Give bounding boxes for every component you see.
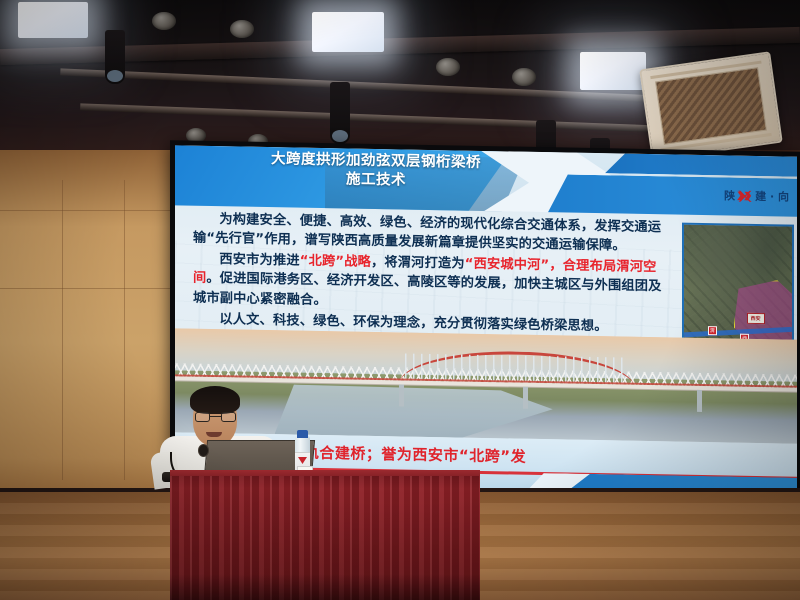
- bridge-pier: [697, 390, 702, 412]
- bridge-rendering-image: [175, 328, 797, 443]
- hanging-light-fixture: [105, 30, 125, 84]
- slide-paragraph-1: 为构建安全、便捷、高效、绿色、经济的现代化综合交通体系，发挥交通运输“先行官”作…: [193, 210, 663, 257]
- glasses-lens-left: [195, 412, 210, 422]
- stage-light: [18, 2, 88, 38]
- glasses-lens-right: [221, 412, 236, 422]
- ceiling-spotlight: [152, 12, 176, 30]
- text-run: 西安市为推进: [219, 252, 299, 268]
- slide-paragraph-2: 西安市为推进“北跨”战略，将渭河打造为“西安城中河”，合理布局渭河空间。促进国际…: [193, 250, 663, 316]
- glasses-bridge: [210, 416, 221, 417]
- ceiling-spotlight: [512, 68, 536, 86]
- map-pin-icon: 渭: [708, 326, 717, 335]
- eyeglasses-icon: [195, 412, 236, 422]
- bridge-pier: [399, 384, 404, 406]
- wall-seam: [0, 210, 172, 211]
- wall-seam: [124, 180, 125, 480]
- fixture-lens: [107, 70, 123, 82]
- presenter-mouth: [206, 432, 222, 437]
- wall-seam: [0, 288, 172, 289]
- text-run: 。促进国际港务区、经济开发区、高陵区等的发展，加快主城区与外围组团及城市副中心紧…: [193, 271, 662, 307]
- double-chevron-logo-icon: [737, 190, 753, 201]
- slide-title: 大跨度拱形加劲弦双层钢桁梁桥 施工技术: [211, 149, 541, 193]
- stage-light: [580, 52, 646, 90]
- presenter-hair: [190, 386, 240, 414]
- wall-seam: [62, 180, 63, 480]
- screenshot-scene: 大跨度拱形加劲弦双层钢桁梁桥 施工技术 陕 建 · 向 为构建安全、便捷、高效、…: [0, 0, 800, 600]
- ceiling-spotlight: [230, 20, 254, 38]
- hanging-light-fixture: [330, 82, 350, 144]
- brand-text-right: 建 · 向: [755, 188, 789, 205]
- text-run: 为构建安全、便捷、高效、绿色、经济的现代化综合交通体系，发挥交通运输“先行官”作…: [193, 212, 661, 254]
- text-run: ，将渭河打造为: [371, 255, 465, 272]
- map-city-label: 西安: [747, 313, 765, 324]
- fixture-lens: [332, 130, 348, 142]
- ceiling-ac-unit: [639, 51, 783, 160]
- bottle-cap: [297, 430, 308, 438]
- ac-grille-icon: [655, 67, 767, 145]
- table-shadow: [170, 574, 480, 600]
- text-run-highlight: “北跨”战略: [300, 254, 371, 270]
- microphone-head-icon: [198, 444, 209, 457]
- slide-body-text: 为构建安全、便捷、高效、绿色、经济的现代化综合交通体系，发挥交通运输“先行官”作…: [193, 210, 663, 339]
- ceiling-spotlight: [436, 58, 460, 76]
- brand-text-left: 陕: [724, 187, 735, 203]
- stage-light: [312, 12, 384, 52]
- slide-header-band: 大跨度拱形加劲弦双层钢桁梁桥 施工技术 陕 建 · 向: [175, 145, 797, 216]
- header-blue-strip: [605, 149, 797, 177]
- presenter-table-skirt: [170, 476, 480, 600]
- bridge-river: [275, 384, 598, 440]
- bridge-pier: [523, 387, 528, 409]
- brand-logo: 陕 建 · 向: [724, 187, 789, 204]
